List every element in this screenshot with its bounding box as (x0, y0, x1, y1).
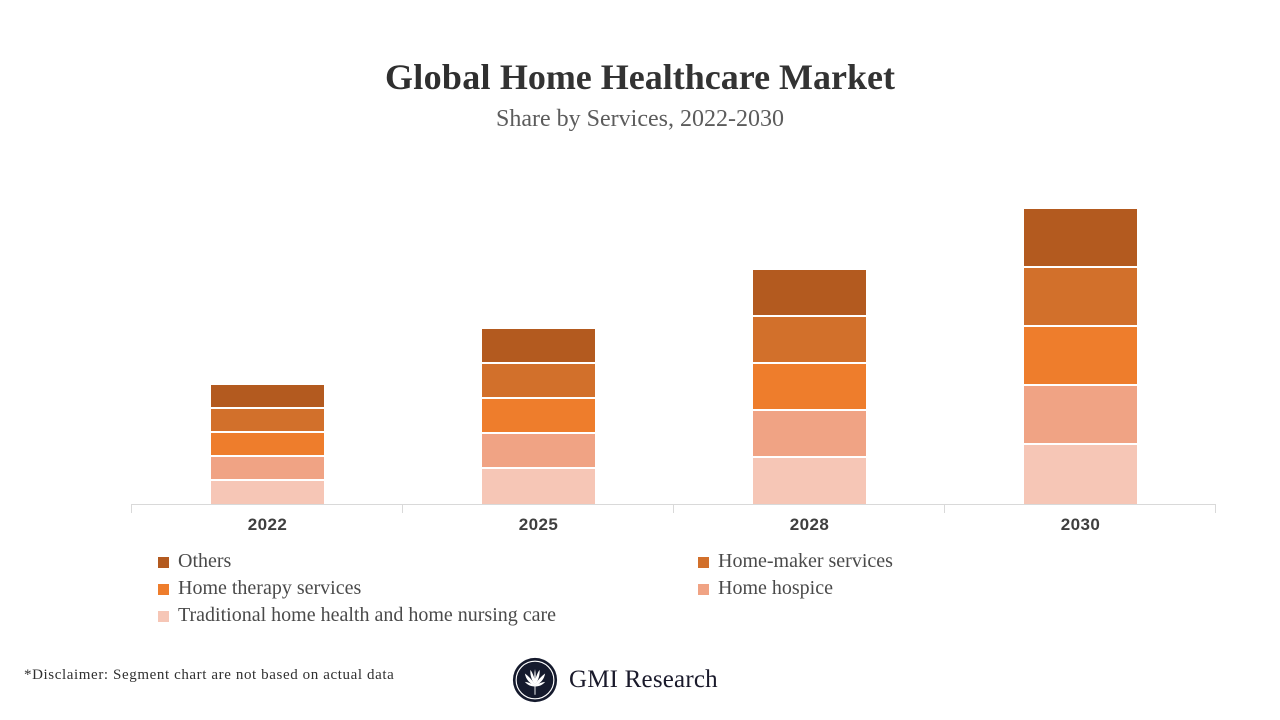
bar-segment[interactable] (753, 270, 866, 317)
axis-tick (673, 504, 674, 513)
legend-row: Home therapy servicesHome hospice (158, 576, 1018, 603)
bar-segment[interactable] (482, 329, 595, 364)
brand-logo: GMI Research (512, 657, 718, 703)
bar-segment[interactable] (211, 409, 324, 433)
legend-label: Home-maker services (718, 549, 893, 573)
chart-header: Global Home Healthcare Market Share by S… (0, 55, 1280, 134)
palm-fan-logo-icon (512, 657, 558, 703)
bar-segment[interactable] (753, 458, 866, 505)
category-label-2030: 2030 (1024, 515, 1137, 535)
axis-tick (944, 504, 945, 513)
bar-segment[interactable] (482, 469, 595, 505)
bar-segment[interactable] (1024, 209, 1137, 268)
chart-title-strong: Global (385, 57, 491, 97)
brand-name: GMI Research (569, 666, 718, 694)
legend-item[interactable]: Home hospice (698, 576, 833, 600)
legend-row: OthersHome-maker services (158, 549, 1018, 576)
bar-segment[interactable] (1024, 445, 1137, 505)
axis-tick (402, 504, 403, 513)
bar-segment[interactable] (753, 317, 866, 364)
bar-stack-2025[interactable] (482, 329, 595, 505)
chart-subtitle: Share by Services, 2022-2030 (0, 104, 1280, 134)
legend-item[interactable]: Home-maker services (698, 549, 893, 573)
bar-segment[interactable] (1024, 268, 1137, 327)
legend-swatch-icon (698, 557, 709, 568)
bar-segment[interactable] (753, 364, 866, 411)
legend-swatch-icon (158, 584, 169, 595)
chart-plot-area (131, 195, 1216, 505)
legend-label: Others (178, 549, 231, 573)
legend-row: Traditional home health and home nursing… (158, 603, 1018, 630)
bar-segment[interactable] (753, 411, 866, 458)
chart-title-rest: Home Healthcare Market (500, 57, 895, 97)
bar-segment[interactable] (211, 385, 324, 409)
category-label-2028: 2028 (753, 515, 866, 535)
legend-label: Home therapy services (178, 576, 361, 600)
legend-swatch-icon (698, 584, 709, 595)
bar-stack-2028[interactable] (753, 270, 866, 505)
bar-stack-2022[interactable] (211, 385, 324, 505)
legend-swatch-icon (158, 611, 169, 622)
bar-segment[interactable] (211, 481, 324, 505)
bar-segment[interactable] (482, 364, 595, 399)
legend-item[interactable]: Home therapy services (158, 576, 361, 600)
axis-tick (131, 504, 132, 513)
disclaimer-text: *Disclaimer: Segment chart are not based… (24, 667, 394, 684)
bar-segment[interactable] (1024, 386, 1137, 445)
chart-legend: OthersHome-maker servicesHome therapy se… (158, 549, 1018, 630)
bar-segment[interactable] (211, 457, 324, 481)
bar-segment[interactable] (211, 433, 324, 457)
category-label-2025: 2025 (482, 515, 595, 535)
bar-segment[interactable] (1024, 327, 1137, 386)
category-label-2022: 2022 (211, 515, 324, 535)
legend-swatch-icon (158, 557, 169, 568)
legend-item[interactable]: Others (158, 549, 231, 573)
legend-label: Home hospice (718, 576, 833, 600)
chart-title: Global Home Healthcare Market (0, 55, 1280, 99)
legend-label: Traditional home health and home nursing… (178, 603, 556, 627)
bar-segment[interactable] (482, 434, 595, 469)
legend-item[interactable]: Traditional home health and home nursing… (158, 603, 556, 627)
bar-stack-2030[interactable] (1024, 209, 1137, 505)
x-axis-category-labels: 2022202520282030 (131, 515, 1216, 543)
axis-tick (1215, 504, 1216, 513)
bar-segment[interactable] (482, 399, 595, 434)
